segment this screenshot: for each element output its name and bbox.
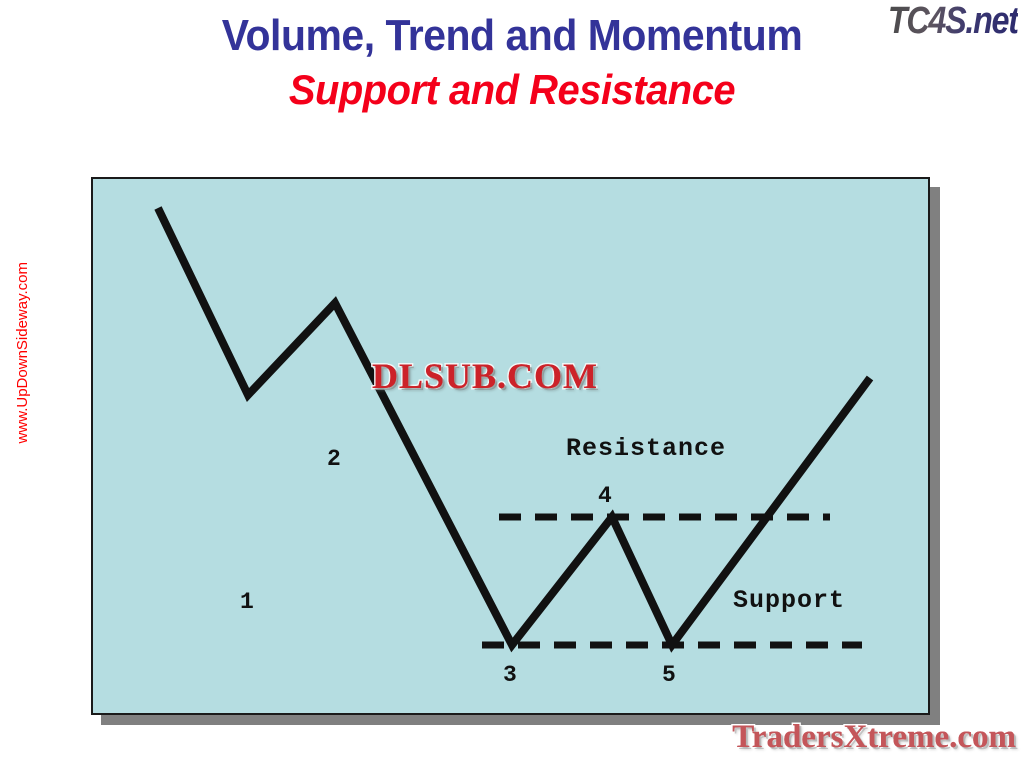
price-line <box>158 208 870 645</box>
watermark-tradersxtreme: TradersXtreme.com TradersXtreme.com <box>732 719 1016 755</box>
swing-point-label-5: 5 <box>662 662 676 688</box>
chart-panel: 1 2 3 4 5 Resistance Support <box>91 177 930 715</box>
resistance-label: Resistance <box>566 434 726 463</box>
watermark-updownsideway-vertical: www.UpDownSideway.com <box>14 262 31 443</box>
slide-title-primary: Volume, Trend and Momentum <box>36 10 988 62</box>
slide-title-block: Volume, Trend and Momentum Support and R… <box>0 10 1024 115</box>
watermark-tradersxtreme-fill: TradersXtreme.com <box>732 719 1016 755</box>
watermark-dlsub-fill: DLSUB.COM <box>372 357 598 395</box>
slide-title-secondary: Support and Resistance <box>26 65 999 115</box>
swing-point-label-1: 1 <box>240 589 254 615</box>
swing-point-label-3: 3 <box>503 662 517 688</box>
support-label: Support <box>733 586 845 615</box>
price-chart-svg <box>93 179 928 713</box>
watermark-tc4s: TC4S.net <box>888 1 1018 41</box>
watermark-dlsub: DLSUB.COM DLSUB.COM <box>372 357 598 395</box>
swing-point-label-4: 4 <box>598 483 612 509</box>
swing-point-label-2: 2 <box>327 446 341 472</box>
